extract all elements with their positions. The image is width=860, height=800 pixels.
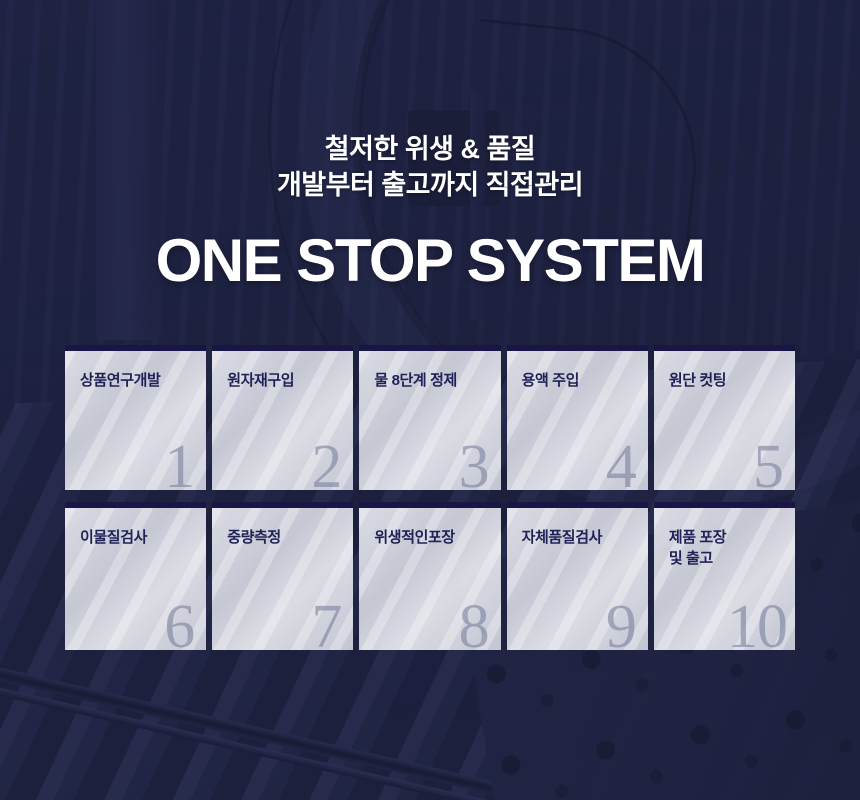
process-card-4[interactable]: 용액 주입 4 <box>507 345 648 490</box>
process-card-3[interactable]: 물 8단계 정제 3 <box>359 345 500 490</box>
process-card-number: 10 <box>727 596 787 650</box>
process-card-number: 7 <box>311 596 341 650</box>
process-step-grid: 상품연구개발 1 원자재구입 2 물 8단계 정제 3 용액 주입 4 원단 컷… <box>65 345 795 650</box>
process-card-number: 9 <box>606 596 636 650</box>
process-card-6[interactable]: 이물질검사 6 <box>65 502 206 650</box>
process-card-number: 4 <box>606 436 636 490</box>
one-stop-system-banner: 철저한 위생 & 품질 개발부터 출고까지 직접관리 ONE STOP SYST… <box>0 0 860 800</box>
process-card-label: 위생적인포장 <box>374 527 500 548</box>
headline: 철저한 위생 & 품질 개발부터 출고까지 직접관리 <box>0 131 860 203</box>
process-card-number: 5 <box>753 436 783 490</box>
process-card-label: 중량측정 <box>227 527 353 548</box>
process-card-number: 2 <box>311 436 341 490</box>
process-card-label: 자체품질검사 <box>522 527 648 548</box>
process-row-2: 이물질검사 6 중량측정 7 위생적인포장 8 자체품질검사 9 제품 포장 및… <box>65 502 795 650</box>
page-title: ONE STOP SYSTEM <box>0 226 860 296</box>
process-card-5[interactable]: 원단 컷팅 5 <box>654 345 795 490</box>
headline-line-1: 철저한 위생 & 품질 <box>0 131 860 167</box>
banner-content: 철저한 위생 & 품질 개발부터 출고까지 직접관리 ONE STOP SYST… <box>0 0 860 800</box>
process-card-label: 이물질검사 <box>80 527 206 548</box>
process-row-1: 상품연구개발 1 원자재구입 2 물 8단계 정제 3 용액 주입 4 원단 컷… <box>65 345 795 490</box>
process-card-label: 물 8단계 정제 <box>374 370 500 391</box>
process-card-label: 원자재구입 <box>227 370 353 391</box>
process-card-2[interactable]: 원자재구입 2 <box>212 345 353 490</box>
process-card-7[interactable]: 중량측정 7 <box>212 502 353 650</box>
process-card-number: 6 <box>164 596 194 650</box>
process-card-8[interactable]: 위생적인포장 8 <box>359 502 500 650</box>
process-card-label: 원단 컷팅 <box>669 370 795 391</box>
process-card-label: 용액 주입 <box>522 370 648 391</box>
process-card-10[interactable]: 제품 포장 및 출고 10 <box>654 502 795 650</box>
process-card-number: 3 <box>459 436 489 490</box>
process-card-label: 제품 포장 및 출고 <box>669 527 795 569</box>
process-card-number: 8 <box>459 596 489 650</box>
process-card-number: 1 <box>164 436 194 490</box>
process-card-9[interactable]: 자체품질검사 9 <box>507 502 648 650</box>
process-card-label: 상품연구개발 <box>80 370 206 391</box>
headline-line-2: 개발부터 출고까지 직접관리 <box>0 167 860 203</box>
process-card-1[interactable]: 상품연구개발 1 <box>65 345 206 490</box>
